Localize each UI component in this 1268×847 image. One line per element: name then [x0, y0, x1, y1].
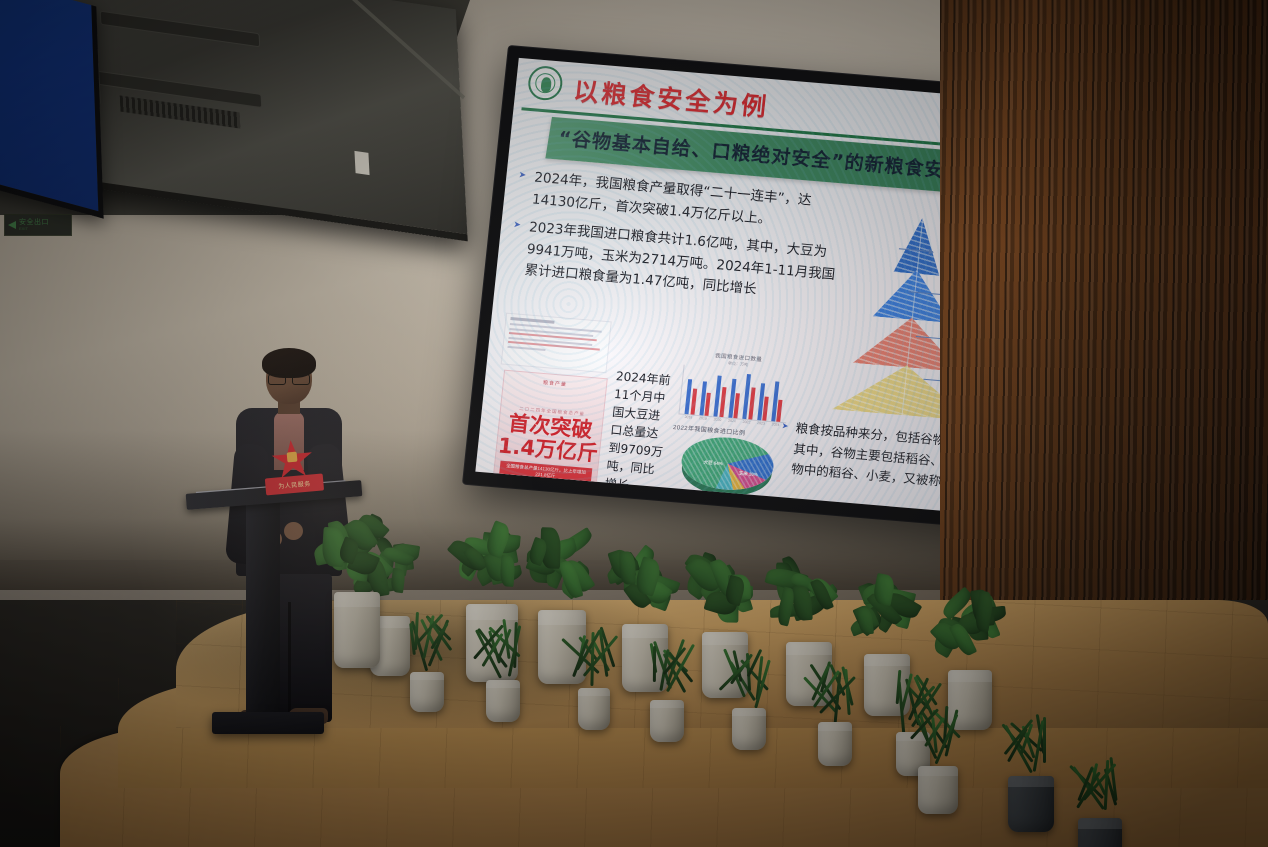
- potted-plant: [316, 516, 402, 668]
- plant-pot: [578, 688, 610, 730]
- plant-pot: [918, 766, 958, 814]
- secondary-blue-screen: [0, 0, 104, 219]
- x-tick-label: 2021: [728, 419, 736, 424]
- bar: [690, 388, 697, 415]
- potted-plant: [900, 690, 980, 814]
- plant-pot: [818, 722, 852, 766]
- bar-group: [771, 381, 785, 422]
- bar-chart-plot: [678, 365, 791, 424]
- lecture-hall-photo: 安全出口 EXIT 以粮食安全为例 “谷物基本自给、口粮绝对安全”的新粮食安全观…: [0, 0, 1268, 847]
- glasses-icon: [268, 374, 310, 383]
- speaker-leg-gap: [288, 602, 291, 720]
- bar-group: [714, 375, 728, 417]
- bar-group: [757, 384, 770, 421]
- pot-rim: [818, 722, 852, 731]
- plant-pot: [732, 708, 766, 750]
- pot-rim: [732, 708, 766, 716]
- pot-rim: [650, 700, 684, 708]
- pot-rim: [948, 670, 992, 682]
- plant-pot: [1078, 818, 1122, 847]
- emergency-exit-sign: 安全出口 EXIT: [4, 214, 72, 236]
- bar-group: [728, 379, 742, 418]
- exit-sign-label: 安全出口: [19, 219, 49, 226]
- speaker-hand-right: [284, 522, 303, 540]
- slide-side-note: 2024年前11个月中国大豆进口总量达到9709万吨，同比增长9.4%。: [602, 367, 675, 515]
- bar-group: [699, 381, 712, 416]
- bar: [705, 393, 711, 416]
- pot-rim: [918, 766, 958, 776]
- mount-brace: [258, 0, 465, 99]
- potted-plant: [1060, 742, 1144, 847]
- bar-chart: 我国粮食进口数量 单位：万吨 2018201920202021202220232…: [678, 349, 793, 428]
- infographic-tag: 粮食产量: [504, 376, 606, 391]
- exit-arrow-icon: [8, 221, 16, 229]
- hammer-sickle-icon: [287, 452, 298, 463]
- x-tick-label: 2019: [699, 416, 707, 421]
- plant-leaf: [653, 646, 656, 682]
- infographic-footer: 全国粮食总产量14130亿斤，比上年增加221.8亿斤: [499, 461, 592, 483]
- plant-leaf: [619, 551, 635, 584]
- device-label-sticker: [354, 151, 369, 175]
- x-tick-label: 2023: [757, 421, 765, 426]
- plant-pot: [486, 680, 520, 722]
- plant-pot: [1008, 776, 1054, 832]
- x-tick-label: 2020: [713, 417, 721, 422]
- plaque-label: 为人民服务: [278, 479, 311, 491]
- bar: [734, 393, 741, 418]
- x-tick-label: 2018: [684, 415, 692, 420]
- x-tick-label: 2022: [742, 420, 750, 425]
- bar-group: [685, 379, 698, 415]
- institution-emblem-icon: [527, 65, 564, 102]
- pot-rim: [410, 672, 444, 680]
- pot-rim: [334, 592, 380, 607]
- news-clipping-screenshot: [501, 313, 612, 374]
- pot-rim: [1008, 776, 1054, 787]
- bar: [762, 397, 768, 421]
- pot-rim: [486, 680, 520, 688]
- pie-hatch-overlay: [679, 434, 776, 493]
- pie-chart-plot: 大豆 64% 玉米 10%: [679, 434, 777, 497]
- slide-bullet-list: 2024年，我国粮食产量取得“二十一连丰”，达14130亿斤，首次突破1.4万亿…: [507, 166, 849, 314]
- clipping-line: [507, 345, 545, 350]
- exit-sign-sub: EXIT: [19, 226, 49, 231]
- x-tick-label: 2024: [771, 422, 779, 427]
- infographic-card: 粮食产量 二〇二四年全国粮食总产量 首次突破 1.4万亿斤 全国粮食总产量141…: [493, 370, 608, 483]
- pot-rim: [1078, 818, 1122, 829]
- podium-stem: [246, 500, 280, 714]
- plaque-banner: 为人民服务: [265, 473, 324, 495]
- podium-base: [212, 712, 324, 734]
- bar-group: [742, 374, 756, 419]
- podium-plaque: 为人民服务: [262, 438, 325, 499]
- plant-pot: [650, 700, 684, 742]
- plant-pot: [410, 672, 444, 712]
- plant-pot: [334, 592, 380, 668]
